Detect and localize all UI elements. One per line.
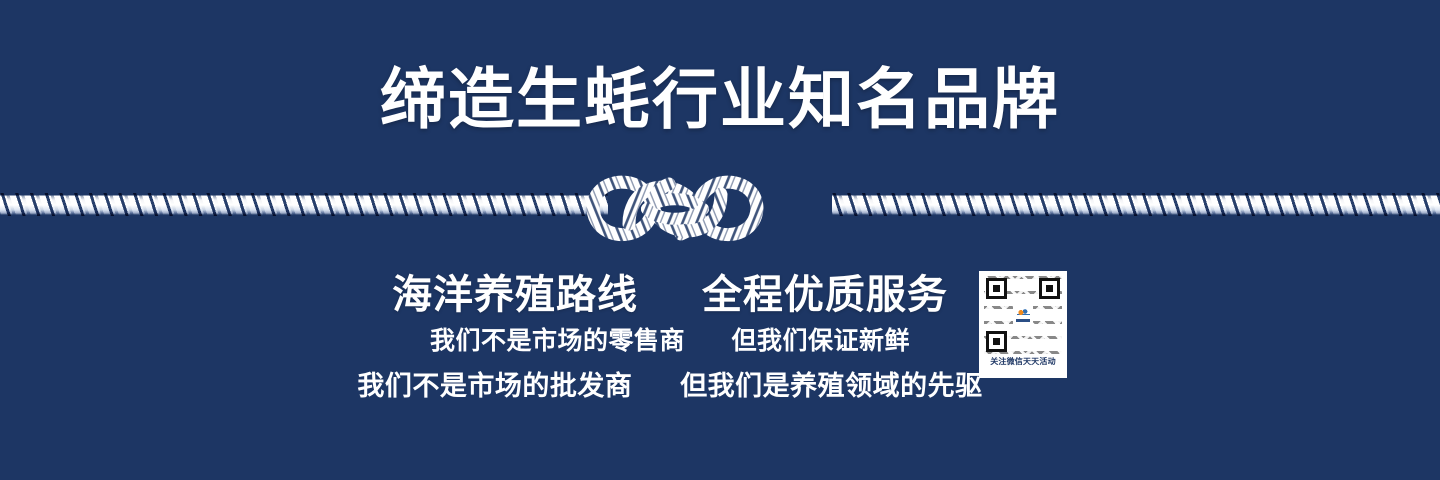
tagline-1-part-2: 但我们保证新鲜: [731, 326, 910, 355]
rope-knot-divider: [0, 168, 1440, 250]
subtitle-part-2: 全程优质服务: [702, 272, 948, 318]
tagline-2-part-2: 但我们是养殖领域的先驱: [680, 371, 983, 402]
rope-segment-left: [0, 193, 608, 216]
qr-code-icon[interactable]: [984, 276, 1062, 354]
tagline-row-1: 我们不是市场的零售商 但我们保证新鲜: [0, 321, 1440, 357]
knot-svg: [585, 168, 765, 250]
tagline-2-part-1: 我们不是市场的批发商: [357, 371, 632, 402]
tagline-row-2: 我们不是市场的批发商 但我们是养殖领域的先驱: [0, 364, 1440, 403]
rope-segment-right: [832, 193, 1440, 216]
qr-card[interactable]: 关注微信天天活动: [979, 271, 1067, 378]
page-title: 缔造生蚝行业知名品牌: [0, 62, 1440, 139]
promo-banner: 缔造生蚝行业知名品牌: [0, 0, 1440, 480]
subtitle: 海洋养殖路线 全程优质服务: [0, 262, 1440, 320]
tagline-1-part-1: 我们不是市场的零售商: [430, 326, 685, 355]
subtitle-part-1: 海洋养殖路线: [392, 272, 638, 318]
qr-center-logo: [1013, 305, 1033, 325]
qr-logo-mark: [1017, 308, 1030, 318]
qr-logo-bar: [1016, 319, 1030, 322]
qr-finder-top-right: [1039, 278, 1060, 299]
knot-icon: [585, 168, 765, 250]
qr-caption: 关注微信天天活动: [990, 358, 1056, 367]
qr-finder-bottom-left: [986, 331, 1007, 352]
qr-finder-top-left: [986, 278, 1007, 299]
